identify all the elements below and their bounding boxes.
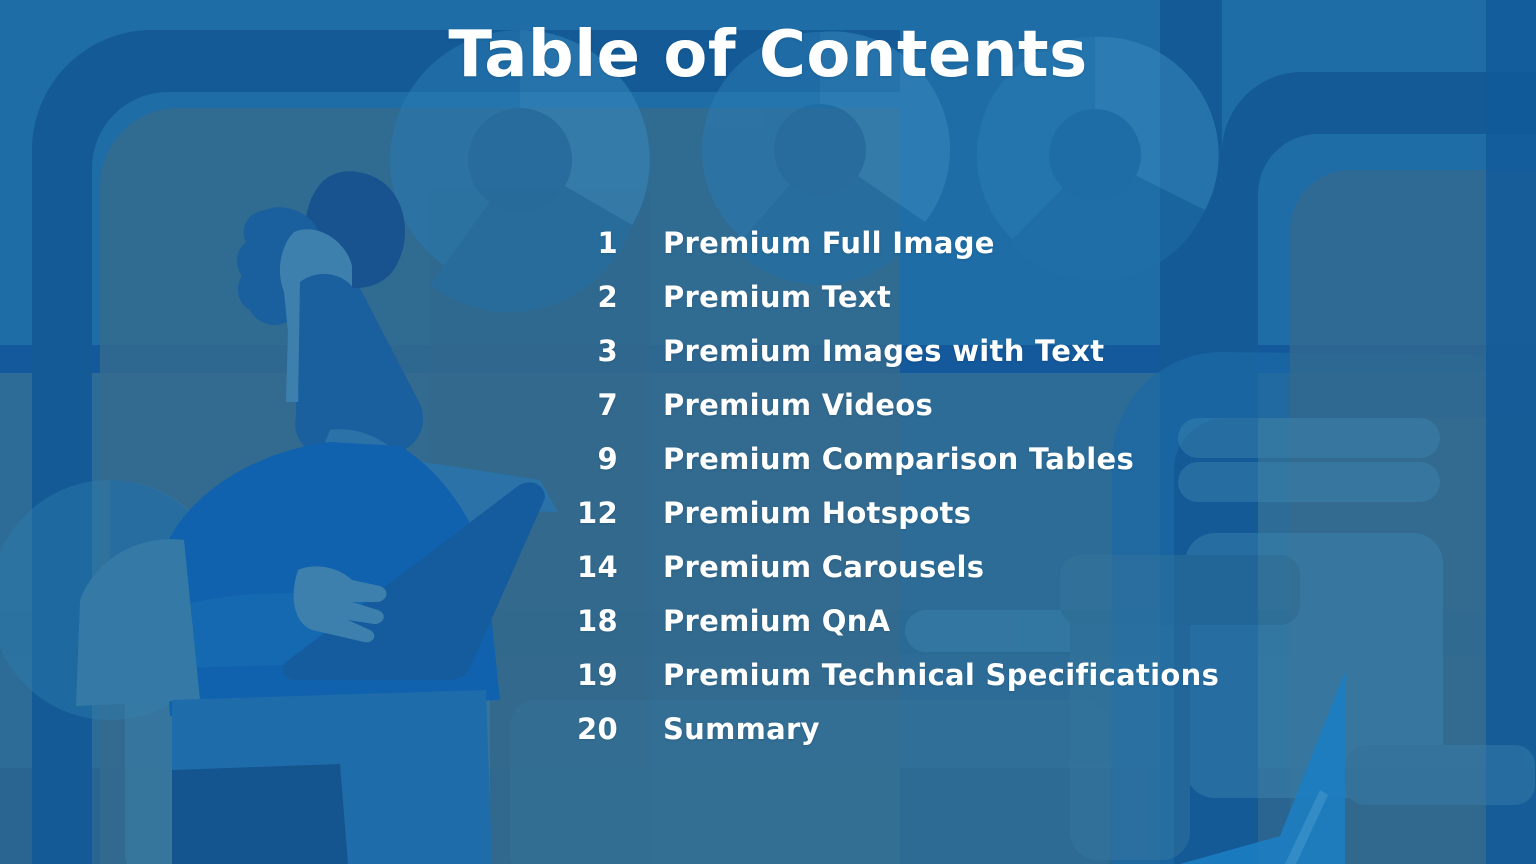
toc-item-label: Premium Videos	[663, 388, 933, 422]
toc-item[interactable]: 12 Premium Hotspots	[560, 486, 1420, 540]
toc-item-number: 1	[560, 226, 618, 260]
table-of-contents-list: 1 Premium Full Image 2 Premium Text 3 Pr…	[560, 216, 1420, 756]
toc-item-label: Premium Full Image	[663, 226, 995, 260]
toc-item-number: 3	[560, 334, 618, 368]
toc-item[interactable]: 3 Premium Images with Text	[560, 324, 1420, 378]
toc-item-label: Premium Carousels	[663, 550, 984, 584]
toc-item[interactable]: 7 Premium Videos	[560, 378, 1420, 432]
toc-item[interactable]: 2 Premium Text	[560, 270, 1420, 324]
page-title: Table of Contents	[0, 22, 1536, 89]
slide-root: Table of Contents 1 Premium Full Image 2…	[0, 0, 1536, 864]
toc-item[interactable]: 14 Premium Carousels	[560, 540, 1420, 594]
toc-item-number: 2	[560, 280, 618, 314]
toc-item-number: 7	[560, 388, 618, 422]
toc-item-number: 9	[560, 442, 618, 476]
toc-item-label: Premium Text	[663, 280, 891, 314]
toc-item-label: Premium Images with Text	[663, 334, 1104, 368]
toc-item-number: 14	[560, 550, 618, 584]
toc-item-label: Premium Hotspots	[663, 496, 971, 530]
toc-item-label: Summary	[663, 712, 820, 746]
toc-item-number: 12	[560, 496, 618, 530]
toc-item[interactable]: 9 Premium Comparison Tables	[560, 432, 1420, 486]
toc-item-number: 19	[560, 658, 618, 692]
toc-item[interactable]: 1 Premium Full Image	[560, 216, 1420, 270]
toc-item[interactable]: 18 Premium QnA	[560, 594, 1420, 648]
toc-item-label: Premium Comparison Tables	[663, 442, 1134, 476]
toc-item[interactable]: 20 Summary	[560, 702, 1420, 756]
toc-item-number: 20	[560, 712, 618, 746]
toc-item-number: 18	[560, 604, 618, 638]
toc-item-label: Premium QnA	[663, 604, 890, 638]
toc-item-label: Premium Technical Specifications	[663, 658, 1219, 692]
toc-item[interactable]: 19 Premium Technical Specifications	[560, 648, 1420, 702]
